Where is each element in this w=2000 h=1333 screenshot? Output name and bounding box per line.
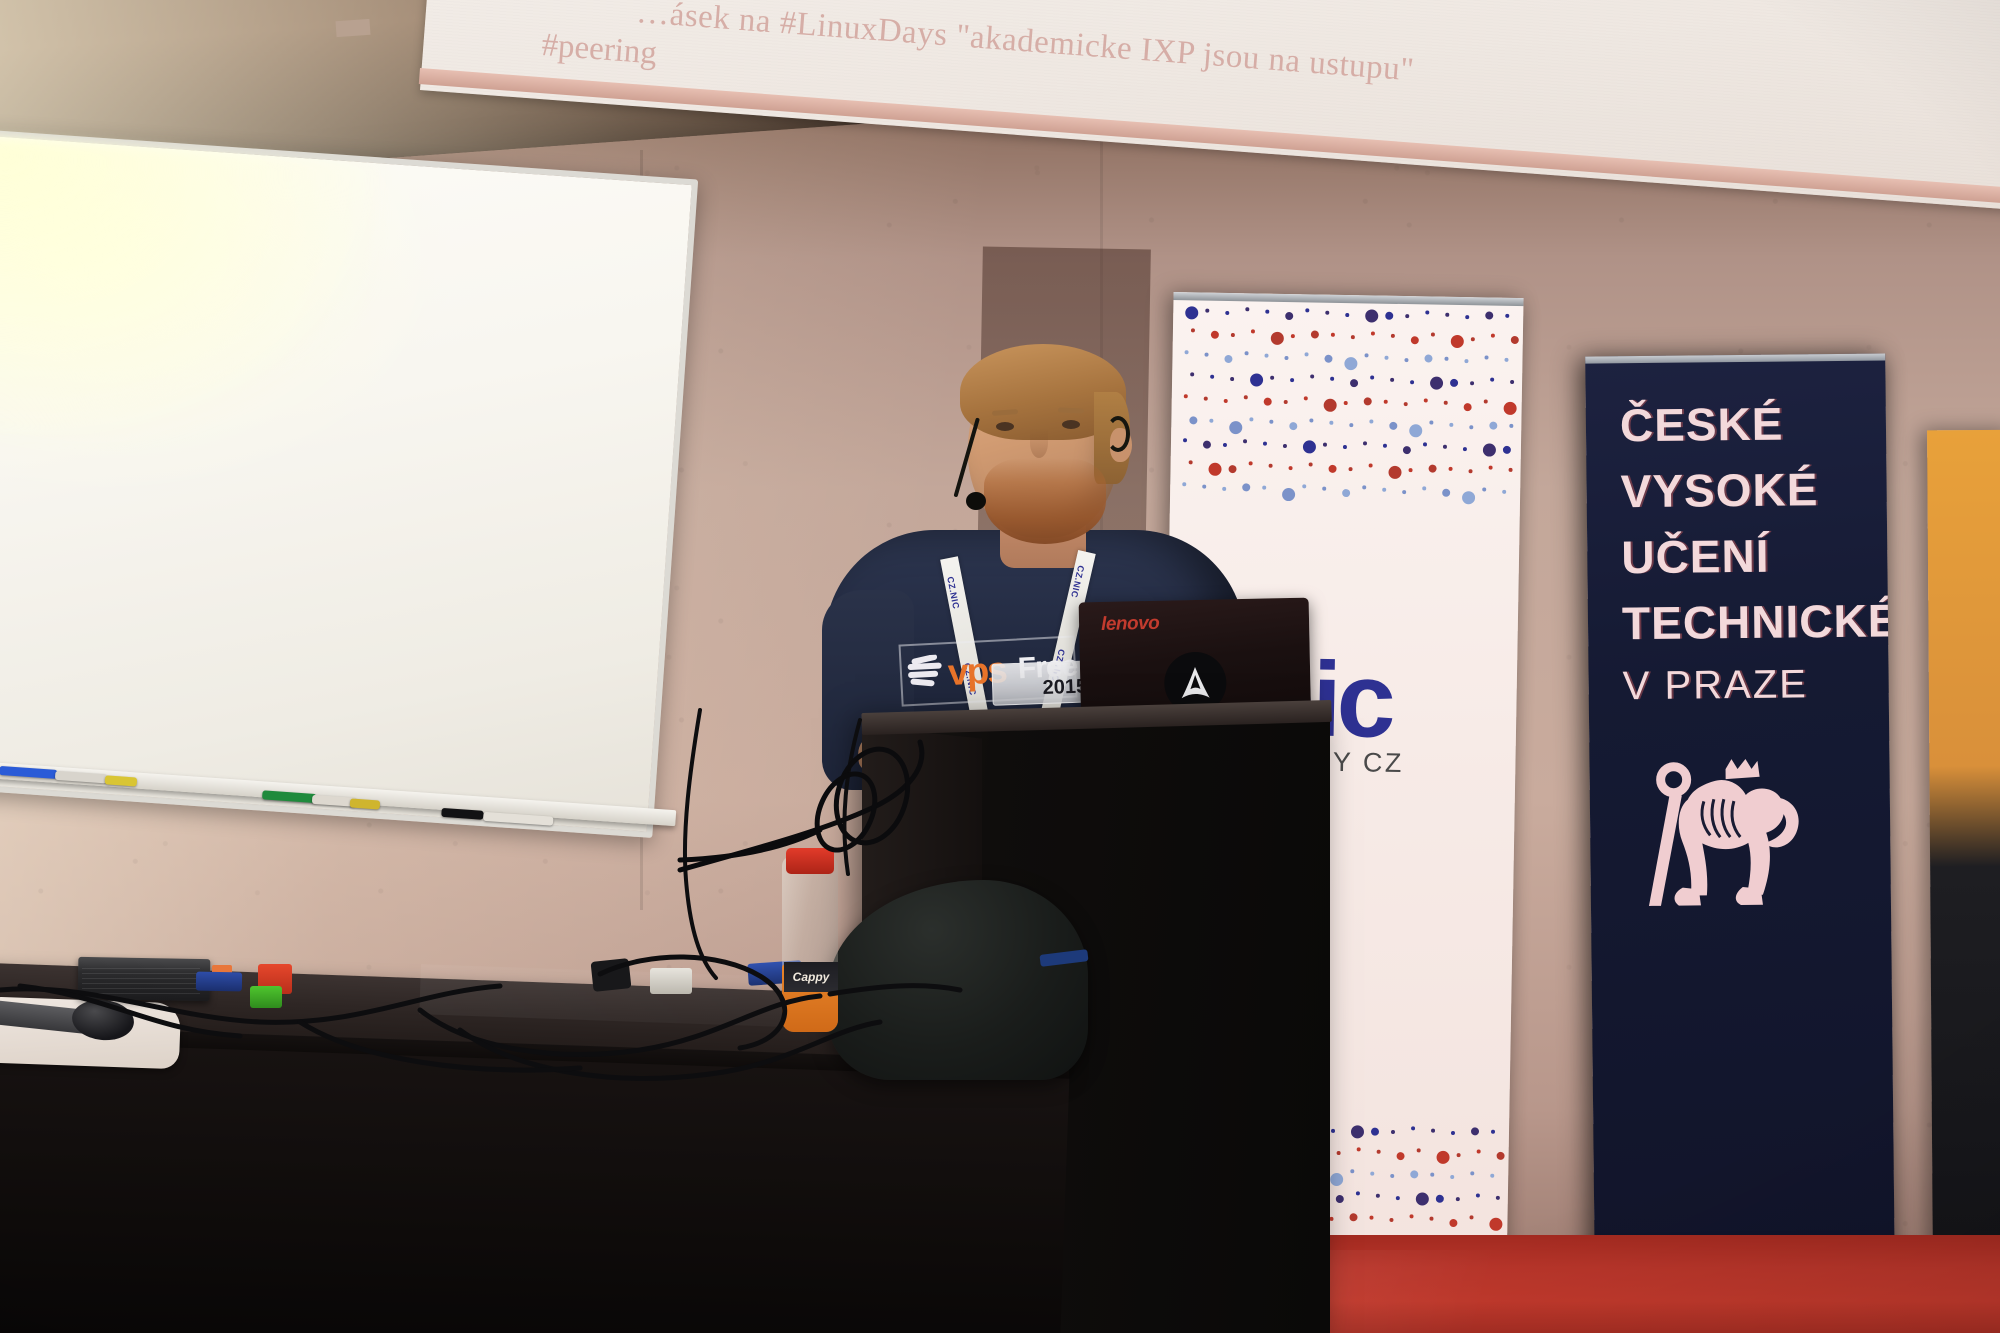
banner-cznic-dot-pattern-top [1170, 306, 1523, 510]
banner-dot [1504, 358, 1508, 362]
banner-dot [1349, 467, 1353, 471]
banner-dot [1364, 397, 1372, 405]
banner-dot [1449, 423, 1453, 427]
banner-dot [1350, 1169, 1354, 1173]
banner-dot [1329, 421, 1333, 425]
banner-dot [1476, 1193, 1480, 1197]
banner-dot [1269, 420, 1273, 424]
banner-dot [1490, 378, 1494, 382]
banner-dot [1391, 334, 1395, 338]
banner-dot [1431, 333, 1435, 337]
banner-dot [1429, 1217, 1433, 1221]
banner-dot [1371, 1128, 1379, 1136]
banner-dot [1343, 445, 1347, 449]
banner-dot [1509, 424, 1513, 428]
banner-dot [1249, 417, 1253, 421]
banner-dot [1270, 376, 1274, 380]
banner-dot [1369, 419, 1373, 423]
banner-dot [1404, 402, 1408, 406]
banner-dot [1330, 377, 1334, 381]
banner-dot [1469, 425, 1473, 429]
banner-dot [1211, 331, 1219, 339]
drink-bottle-cap [786, 848, 834, 874]
podium-cable-loops [880, 700, 1140, 960]
banner-dot [1451, 335, 1464, 348]
banner-dot [1305, 352, 1309, 356]
banner-dot [1229, 421, 1242, 434]
banner-dot [1451, 1131, 1455, 1135]
banner-dot [1362, 485, 1366, 489]
banner-dot [1504, 402, 1517, 415]
banner-dot [1351, 1125, 1364, 1138]
banner-dot [1389, 1218, 1393, 1222]
headset-ear-loop-icon [1106, 416, 1130, 452]
banner-dot [1469, 469, 1473, 473]
banner-dot [1402, 490, 1406, 494]
banner-dot [1263, 442, 1267, 446]
banner-dot [1285, 312, 1293, 320]
banner-dot [1289, 422, 1297, 430]
banner-dot [1230, 377, 1234, 381]
banner-dot [1484, 399, 1488, 403]
banner-dot [1430, 377, 1443, 390]
white-marker [55, 771, 108, 784]
banner-dot [1450, 1175, 1454, 1179]
banner-dot [1370, 375, 1374, 379]
banner-dot [1363, 441, 1367, 445]
headset-mic-capsule-icon [966, 492, 986, 510]
banner-dot [1425, 310, 1429, 314]
speaker-nose [1030, 428, 1048, 458]
banner-dot [1484, 355, 1488, 359]
photo-scene: …ásek na #LinuxDays "akademicke IXP jsou… [0, 0, 2000, 1333]
banner-dot [1477, 1149, 1481, 1153]
banner-dot [1383, 444, 1387, 448]
banner-dot [1309, 462, 1313, 466]
banner-dot [1403, 446, 1411, 454]
banner-dot [1470, 381, 1474, 385]
banner-dot [1329, 1217, 1333, 1221]
banner-dot [1411, 1126, 1415, 1130]
banner-dot [1356, 1191, 1360, 1195]
banner-dot [1422, 486, 1426, 490]
banner-dot [1324, 355, 1332, 363]
banner-dot [1349, 423, 1353, 427]
banner-dot [1377, 1150, 1381, 1154]
banner-dot [1384, 356, 1388, 360]
banner-dot [1464, 359, 1468, 363]
banner-dot [1417, 1148, 1421, 1152]
banner-dot [1502, 490, 1506, 494]
banner-dot [1503, 446, 1511, 454]
soffit-mount-bracket [335, 19, 370, 37]
banner-dot [1304, 396, 1308, 400]
banner-dot [1331, 1129, 1335, 1133]
banner-third-partial [1927, 430, 2000, 1271]
banner-dot [1324, 399, 1337, 412]
banner-dot [1430, 1173, 1434, 1177]
banner-dot [1336, 1195, 1344, 1203]
banner-dot [1351, 335, 1355, 339]
banner-dot [1224, 355, 1232, 363]
banner-dot [1191, 328, 1195, 332]
banner-dot [1376, 1194, 1380, 1198]
banner-dot [1410, 1170, 1418, 1178]
speaker-eye-left [996, 422, 1014, 431]
banner-dot [1444, 401, 1448, 405]
vpsfree-hand-icon [903, 654, 949, 690]
banner-dot [1310, 374, 1314, 378]
banner-dot [1330, 1173, 1343, 1186]
whiteboard-light-glare [0, 134, 385, 463]
banner-dot [1485, 311, 1493, 319]
banner-dot [1331, 333, 1335, 337]
banner-dot [1282, 488, 1295, 501]
banner-dot [1442, 489, 1450, 497]
banner-dot [1490, 1174, 1494, 1178]
banner-dot [1450, 379, 1458, 387]
banner-dot [1409, 1214, 1413, 1218]
banner-dot [1444, 357, 1448, 361]
banner-dot [1337, 1151, 1341, 1155]
banner-dot [1323, 443, 1327, 447]
banner-cvut-line-4: TECHNICKÉ [1622, 597, 1895, 646]
banner-dot [1365, 353, 1369, 357]
banner-dot [1225, 311, 1229, 315]
banner-dot [1249, 461, 1253, 465]
banner-dot [1390, 1174, 1394, 1178]
banner-dot [1424, 398, 1428, 402]
banner-dot [1397, 1152, 1405, 1160]
banner-dot [1369, 1216, 1373, 1220]
banner-dot [1449, 1219, 1457, 1227]
banner-dot [1262, 486, 1266, 490]
banner-dot [1205, 309, 1209, 313]
banner-dot [1471, 337, 1475, 341]
banner-dot [1271, 332, 1284, 345]
banner-dot [1389, 422, 1397, 430]
banner-dot [1244, 395, 1248, 399]
banner-dot [1384, 400, 1388, 404]
banner-dot [1431, 1129, 1435, 1133]
banner-dot [1283, 444, 1287, 448]
blue-marker [0, 766, 58, 779]
banner-dot [1325, 311, 1329, 315]
banner-dot [1264, 398, 1272, 406]
speaker-eye-right [1062, 420, 1080, 429]
banner-dot [1443, 445, 1447, 449]
banner-dot [1224, 399, 1228, 403]
banner-dot [1396, 1196, 1400, 1200]
banner-dot [1284, 400, 1288, 404]
banner-dot [1365, 309, 1378, 322]
speaker-beard [984, 458, 1106, 544]
banner-dot [1456, 1197, 1460, 1201]
banner-dot [1463, 447, 1467, 451]
banner-dot [1228, 465, 1236, 473]
banner-dot [1388, 466, 1401, 479]
banner-dot [1429, 421, 1433, 425]
banner-dot [1222, 487, 1226, 491]
banner-dot [1250, 373, 1263, 386]
banner-dot [1409, 424, 1422, 437]
banner-dot [1416, 1192, 1429, 1205]
banner-dot [1265, 310, 1269, 314]
banner-dot [1436, 1195, 1444, 1203]
banner-dot [1491, 334, 1495, 338]
banner-dot [1243, 439, 1247, 443]
banner-dot [1303, 440, 1316, 453]
banner-cvut-line-5: V PRAZE [1622, 664, 1808, 706]
cvut-lion-emblem-icon [1629, 754, 1811, 916]
banner-dot [1497, 1152, 1505, 1160]
banner-dot [1302, 484, 1306, 488]
banner-dot [1470, 1171, 1474, 1175]
banner-dot [1482, 487, 1486, 491]
banner-dot [1445, 313, 1449, 317]
banner-dot [1322, 487, 1326, 491]
banner-dot [1223, 443, 1227, 447]
banner-dot [1290, 378, 1294, 382]
yellow-marker [105, 775, 138, 786]
banner-dot [1251, 329, 1255, 333]
whiteboard [0, 128, 698, 838]
banner-dot [1505, 314, 1509, 318]
banner-dot [1242, 483, 1250, 491]
banner-dot [1496, 1196, 1500, 1200]
banner-cvut: ČESKÉ VYSOKÉ UČENÍ TECHNICKÉ V PRAZE [1585, 353, 1895, 1271]
banner-dot [1382, 488, 1386, 492]
banner-dot [1231, 333, 1235, 337]
laptop-brand-label: lenovo [1101, 613, 1160, 636]
banner-dot [1385, 312, 1393, 320]
banner-dot [1423, 442, 1427, 446]
banner-dot [1429, 464, 1437, 472]
banner-dot [1464, 403, 1472, 411]
banner-dot [1369, 463, 1373, 467]
banner-dot [1345, 313, 1349, 317]
banner-dot [1264, 354, 1268, 358]
banner-cvut-line-1: ČESKÉ [1620, 401, 1784, 449]
banner-dot [1510, 380, 1514, 384]
banner-dot [1245, 351, 1249, 355]
banner-dot [1311, 330, 1319, 338]
banner-dot [1289, 466, 1293, 470]
banner-dot [1344, 357, 1357, 370]
banner-dot [1391, 1130, 1395, 1134]
banner-dot [1511, 336, 1519, 344]
banner-dot [1342, 489, 1350, 497]
banner-dot [1350, 379, 1358, 387]
banner-dot [1489, 466, 1493, 470]
banner-dot [1489, 422, 1497, 430]
banner-dot [1410, 380, 1414, 384]
banner-dot [1349, 1213, 1357, 1221]
banner-dot [1291, 334, 1295, 338]
banner-dot [1404, 358, 1408, 362]
banner-dot [1471, 1127, 1479, 1135]
banner-dot [1489, 1218, 1502, 1231]
banner-dot [1465, 315, 1469, 319]
banner-dot [1411, 336, 1419, 344]
banner-dot [1305, 308, 1309, 312]
banner-dot [1245, 307, 1249, 311]
banner-cvut-line-2: VYSOKÉ [1620, 466, 1818, 514]
banner-dot [1370, 1172, 1374, 1176]
banner-dot [1309, 418, 1313, 422]
banner-dot [1462, 491, 1475, 504]
banner-dot [1449, 467, 1453, 471]
banner-dot [1436, 1151, 1449, 1164]
banner-dot [1357, 1147, 1361, 1151]
banner-dot [1491, 1130, 1495, 1134]
banner-dot [1405, 314, 1409, 318]
banner-dot [1409, 468, 1413, 472]
banner-dot [1269, 464, 1273, 468]
banner-dot [1424, 354, 1432, 362]
banner-dot [1185, 306, 1198, 319]
banner-dot [1328, 465, 1336, 473]
banner-dot [1284, 356, 1288, 360]
banner-dot [1457, 1153, 1461, 1157]
banner-dot [1509, 468, 1513, 472]
banner-cvut-line-3: UČENÍ [1621, 533, 1770, 581]
banner-dot [1483, 443, 1496, 456]
banner-dot [1469, 1215, 1473, 1219]
banner-dot [1371, 331, 1375, 335]
banner-dot [1390, 378, 1394, 382]
banner-dot [1344, 401, 1348, 405]
